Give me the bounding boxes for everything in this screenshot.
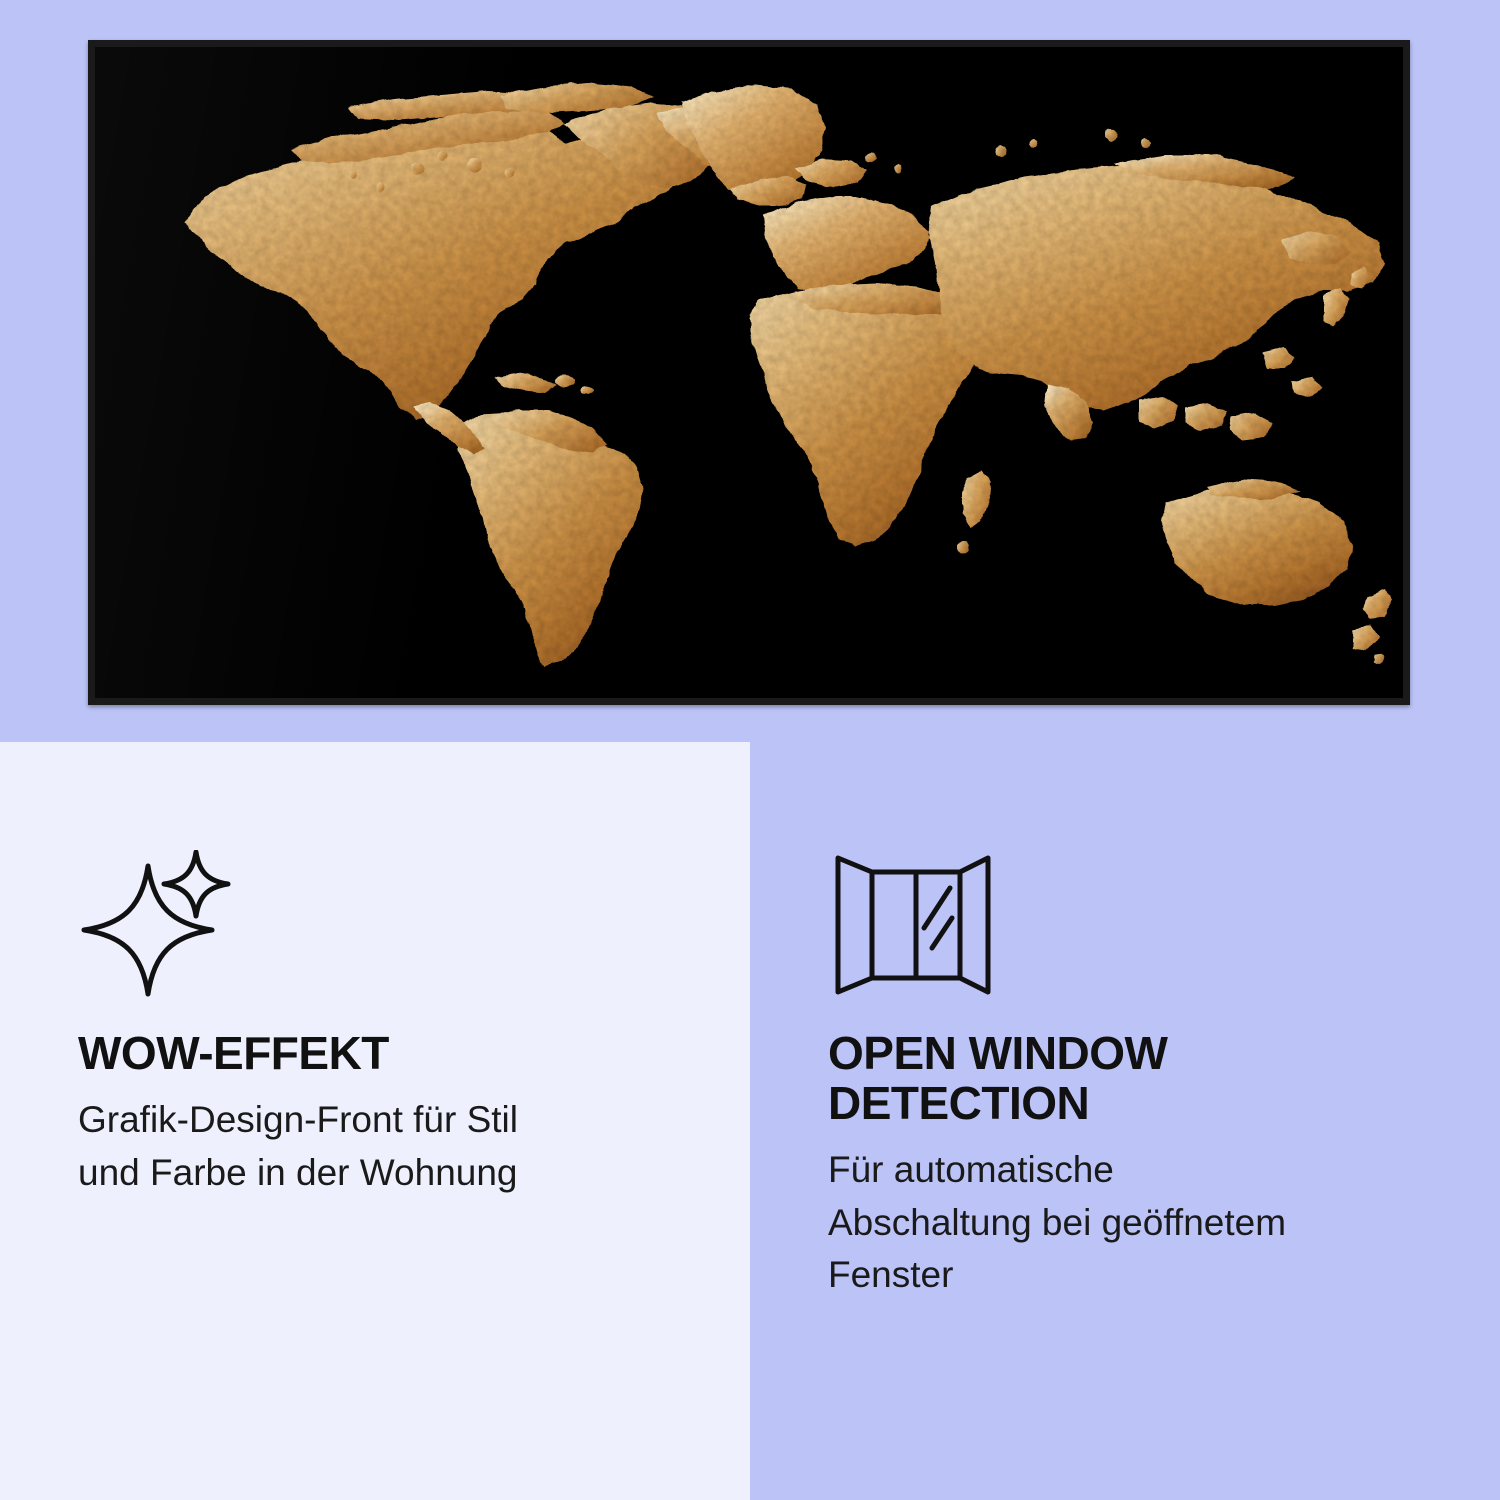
feature-title: OPEN WINDOW DETECTION (828, 1028, 1428, 1128)
world-map-graphic (95, 47, 1403, 698)
product-feature-page: WOW-EFFEKT Grafik-Design-Front für Stil … (0, 0, 1500, 1500)
feature-description: Für automatische Abschaltung bei geöffne… (828, 1144, 1308, 1302)
feature-card-wow-effekt: WOW-EFFEKT Grafik-Design-Front für Stil … (0, 742, 750, 1500)
hero-panel (0, 0, 1500, 742)
feature-row: WOW-EFFEKT Grafik-Design-Front für Stil … (0, 742, 1500, 1500)
picture-frame (88, 40, 1410, 705)
feature-title: WOW-EFFEKT (78, 1028, 678, 1078)
open-window-icon (828, 850, 1428, 1020)
sparkle-icon (78, 850, 678, 1020)
frame-canvas (95, 47, 1403, 698)
feature-card-open-window-detection: OPEN WINDOW DETECTION Für automatische A… (750, 742, 1500, 1500)
feature-description: Grafik-Design-Front für Stil und Farbe i… (78, 1094, 548, 1199)
